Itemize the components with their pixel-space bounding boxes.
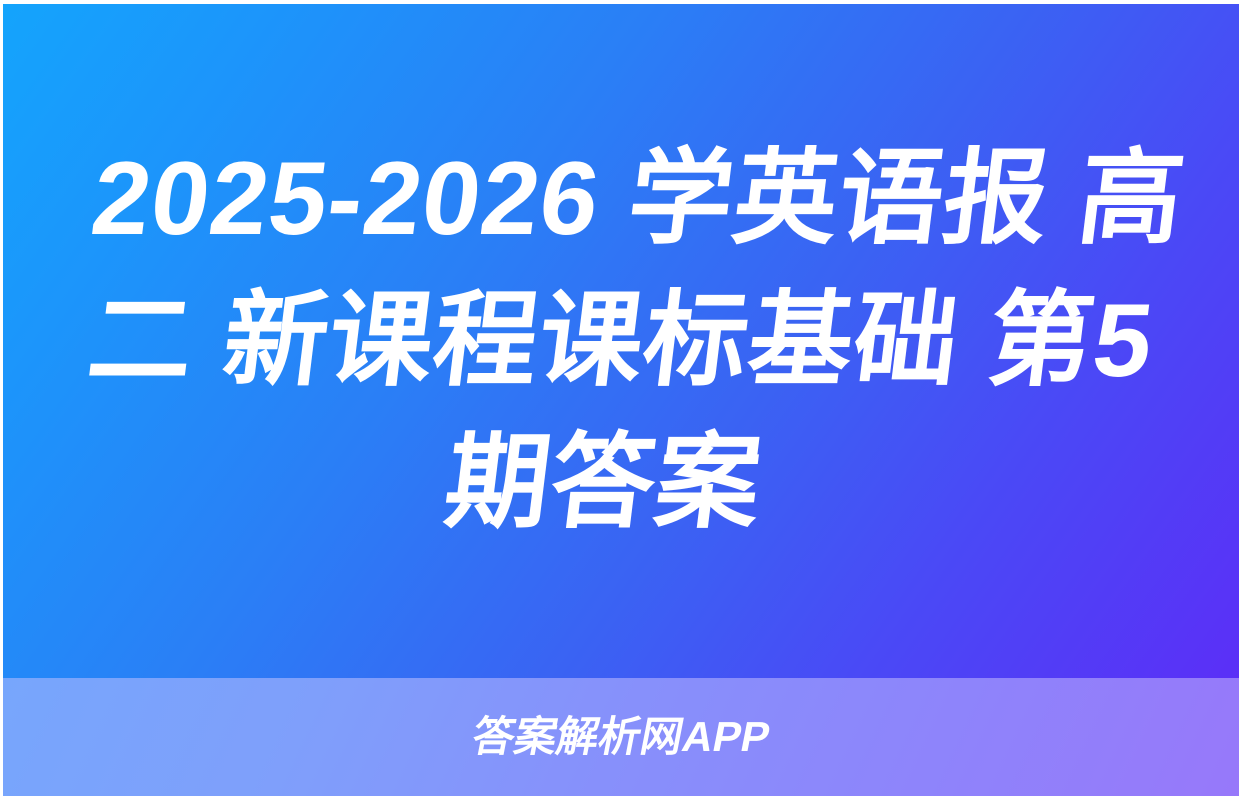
page-title: 2025-2026 学英语报 高二 新课程课标基础 第5期答案 <box>35 128 1207 554</box>
poster-footer-band: 答案解析网APP <box>3 678 1239 796</box>
poster-hero-banner: 2025-2026 学英语报 高二 新课程课标基础 第5期答案 <box>3 4 1239 678</box>
answer-poster-image: 2025-2026 学英语报 高二 新课程课标基础 第5期答案 答案解析网APP <box>0 0 1242 800</box>
poster-canvas: 2025-2026 学英语报 高二 新课程课标基础 第5期答案 答案解析网APP <box>3 4 1239 796</box>
app-brand-watermark: 答案解析网APP <box>469 716 774 758</box>
